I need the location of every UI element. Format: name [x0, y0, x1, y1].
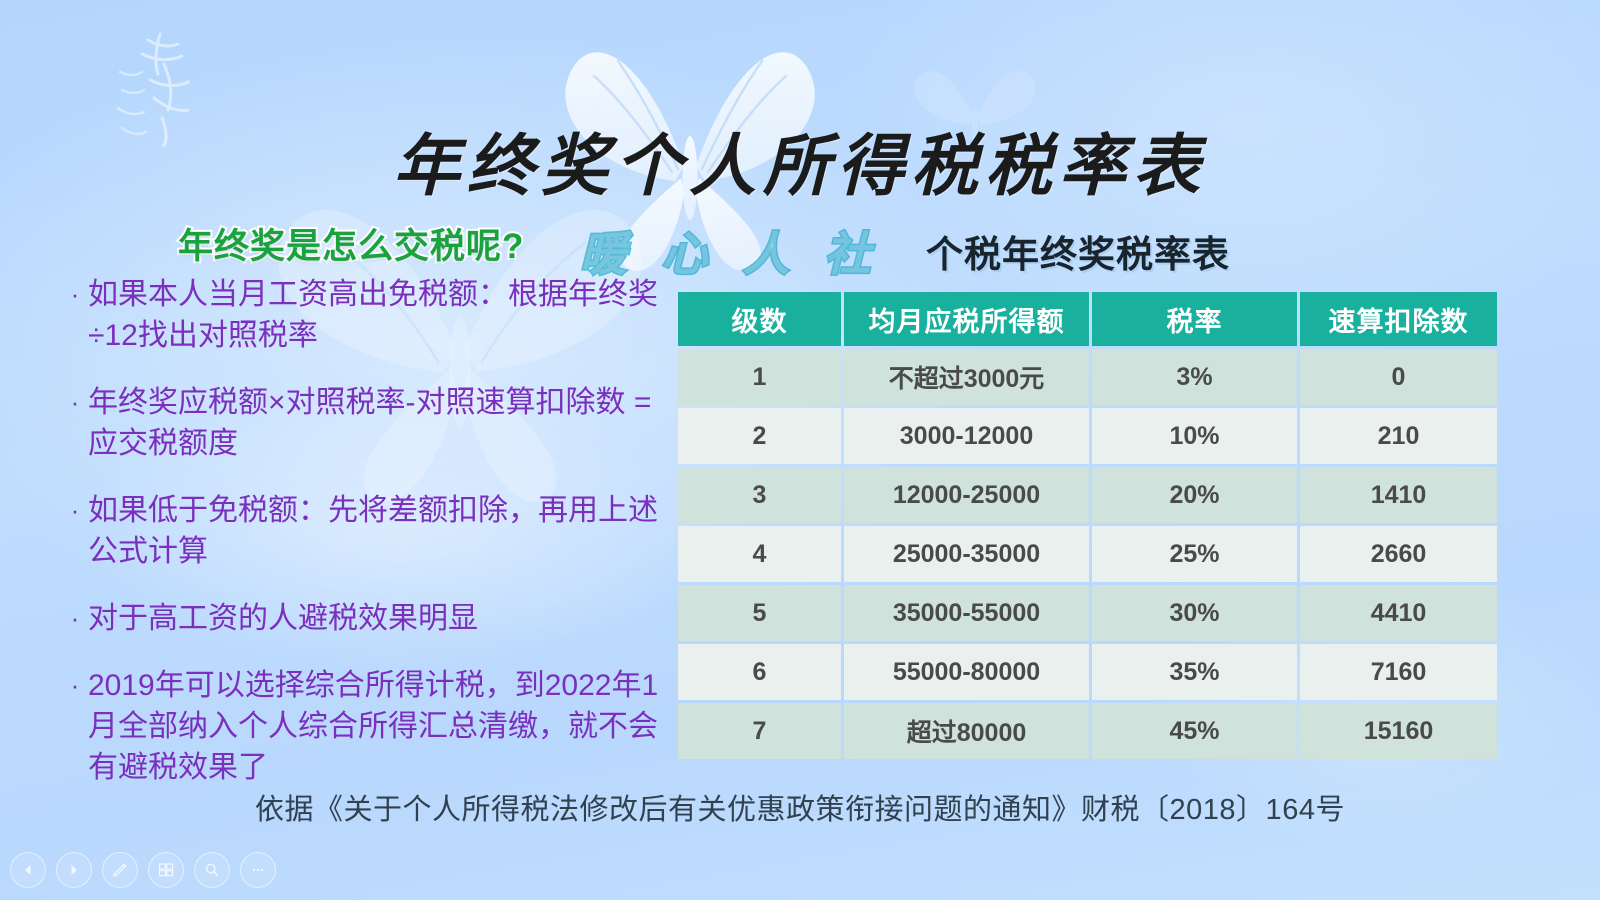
cell-level: 2	[678, 408, 841, 464]
table-heading: 个税年终奖税率表	[926, 224, 1230, 278]
pen-icon	[111, 861, 129, 879]
table-row: 7 超过80000 45% 15160	[678, 703, 1497, 759]
cell-deduction: 210	[1300, 408, 1497, 464]
cell-range: 12000-25000	[844, 467, 1089, 523]
list-item-text: 如果本人当月工资高出免税额：根据年终奖÷12找出对照税率	[88, 274, 662, 356]
cell-rate: 25%	[1092, 526, 1297, 582]
column-header-deduction: 速算扣除数	[1300, 292, 1497, 346]
table-row: 4 25000-35000 25% 2660	[678, 526, 1497, 582]
cell-deduction: 4410	[1300, 585, 1497, 641]
cell-level: 1	[678, 349, 841, 405]
cell-deduction: 0	[1300, 349, 1497, 405]
cell-range: 25000-35000	[844, 526, 1089, 582]
table-row: 6 55000-80000 35% 7160	[678, 644, 1497, 700]
list-item-text: 年终奖应税额×对照税率-对照速算扣除数 = 应交税额度	[88, 382, 662, 464]
cell-rate: 10%	[1092, 408, 1297, 464]
list-item-text: 2019年可以选择综合所得计税，到2022年1月全部纳入个人综合所得汇总清缴，就…	[88, 665, 662, 788]
cell-level: 4	[678, 526, 841, 582]
list-item: · 如果低于免税额：先将差额扣除，再用上述公式计算	[62, 490, 662, 572]
cell-range: 55000-80000	[844, 644, 1089, 700]
previous-slide-button[interactable]	[10, 852, 46, 888]
cell-deduction: 1410	[1300, 467, 1497, 523]
cell-deduction: 15160	[1300, 703, 1497, 759]
previous-slide-icon	[20, 862, 36, 878]
list-item-text: 如果低于免税额：先将差额扣除，再用上述公式计算	[88, 490, 662, 572]
tax-rate-table-container: 级数 均月应税所得额 税率 速算扣除数 1 不超过3000元 3% 0 2 30…	[675, 289, 1485, 762]
column-header-rate: 税率	[1092, 292, 1297, 346]
cell-deduction: 2660	[1300, 526, 1497, 582]
cell-rate: 35%	[1092, 644, 1297, 700]
cell-level: 7	[678, 703, 841, 759]
zoom-button[interactable]	[194, 852, 230, 888]
presenter-toolbar[interactable]	[10, 852, 276, 888]
column-header-level: 级数	[678, 292, 841, 346]
table-header-row: 级数 均月应税所得额 税率 速算扣除数	[678, 292, 1497, 346]
cell-level: 6	[678, 644, 841, 700]
presentation-slide: 年终奖个人所得税税率表 年终奖是怎么交税呢? · 如果本人当月工资高出免税额：根…	[0, 0, 1600, 900]
table-row: 2 3000-12000 10% 210	[678, 408, 1497, 464]
more-options-button[interactable]	[240, 852, 276, 888]
bullet-marker-icon: ·	[62, 665, 88, 705]
list-item: · 年终奖应税额×对照税率-对照速算扣除数 = 应交税额度	[62, 382, 662, 464]
watermark-brand: 暖 心 人 社	[580, 218, 883, 284]
bullet-marker-icon: ·	[62, 490, 88, 530]
table-row: 5 35000-55000 30% 4410	[678, 585, 1497, 641]
column-header-range: 均月应税所得额	[844, 292, 1089, 346]
cell-range: 35000-55000	[844, 585, 1089, 641]
cell-range: 不超过3000元	[844, 349, 1089, 405]
bullet-marker-icon: ·	[62, 382, 88, 422]
cell-rate: 30%	[1092, 585, 1297, 641]
cell-level: 3	[678, 467, 841, 523]
bullet-list: · 如果本人当月工资高出免税额：根据年终奖÷12找出对照税率 · 年终奖应税额×…	[62, 274, 662, 814]
cell-range: 超过80000	[844, 703, 1089, 759]
list-item: · 如果本人当月工资高出免税额：根据年终奖÷12找出对照税率	[62, 274, 662, 356]
slide-grid-icon	[157, 861, 175, 879]
all-slides-button[interactable]	[148, 852, 184, 888]
cell-range: 3000-12000	[844, 408, 1089, 464]
page-title: 年终奖个人所得税税率表	[0, 112, 1600, 209]
cell-rate: 3%	[1092, 349, 1297, 405]
cell-level: 5	[678, 585, 841, 641]
question-heading: 年终奖是怎么交税呢?	[178, 218, 524, 269]
table-row: 3 12000-25000 20% 1410	[678, 467, 1497, 523]
list-item: · 2019年可以选择综合所得计税，到2022年1月全部纳入个人综合所得汇总清缴…	[62, 665, 662, 788]
list-item: · 对于高工资的人避税效果明显	[62, 598, 662, 639]
bullet-marker-icon: ·	[62, 274, 88, 314]
zoom-icon	[203, 861, 221, 879]
tax-rate-table: 级数 均月应税所得额 税率 速算扣除数 1 不超过3000元 3% 0 2 30…	[675, 289, 1500, 762]
pen-tool-button[interactable]	[102, 852, 138, 888]
cell-rate: 20%	[1092, 467, 1297, 523]
more-options-icon	[249, 861, 267, 879]
bullet-marker-icon: ·	[62, 598, 88, 638]
cell-rate: 45%	[1092, 703, 1297, 759]
list-item-text: 对于高工资的人避税效果明显	[88, 598, 662, 639]
next-slide-icon	[66, 862, 82, 878]
cell-deduction: 7160	[1300, 644, 1497, 700]
table-row: 1 不超过3000元 3% 0	[678, 349, 1497, 405]
footer-source-note: 依据《关于个人所得税法修改后有关优惠政策衔接问题的通知》财税〔2018〕164号	[0, 786, 1600, 828]
next-slide-button[interactable]	[56, 852, 92, 888]
